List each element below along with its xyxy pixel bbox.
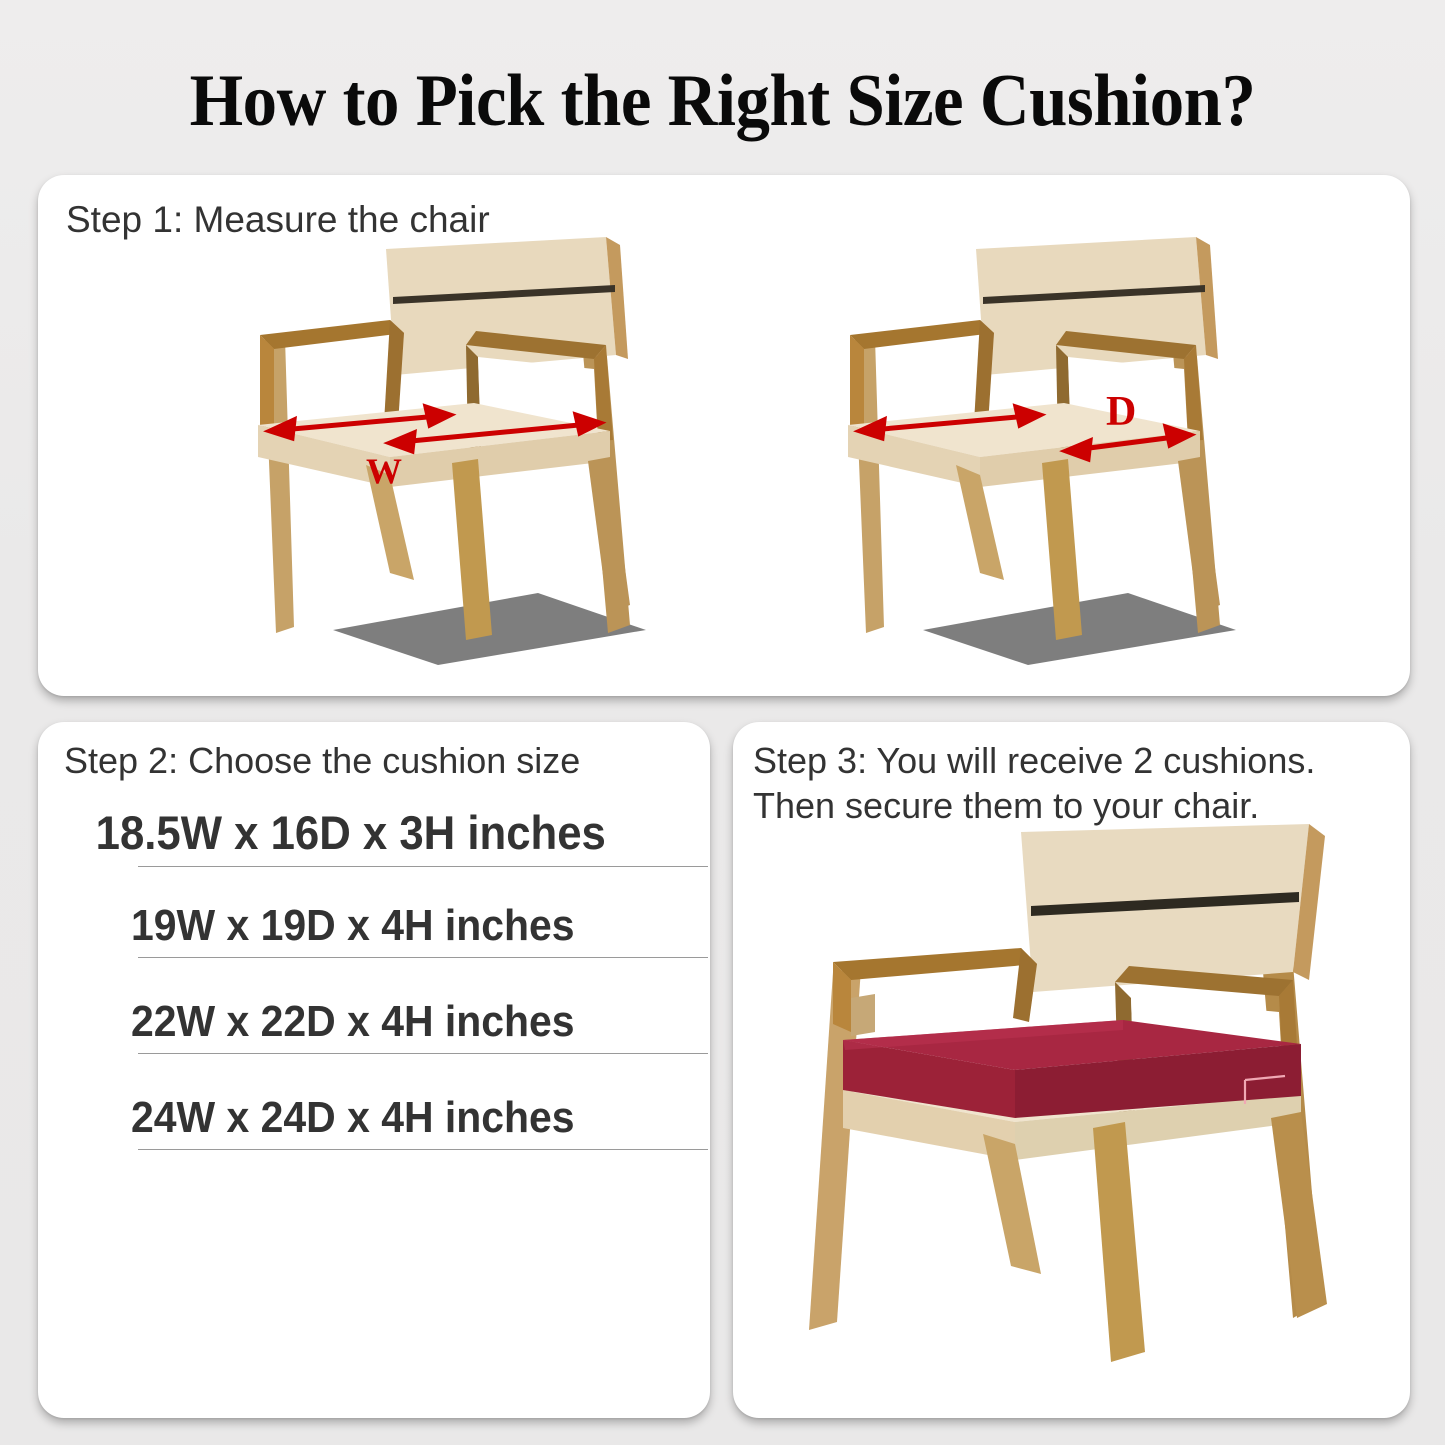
front-leg-center xyxy=(1093,1122,1145,1362)
armrest-left-top xyxy=(260,320,404,349)
armrest-left-top xyxy=(833,948,1037,980)
size-divider xyxy=(138,957,708,958)
cushion-size-list: 18.5W x 16D x 3H inches 19W x 19D x 4H i… xyxy=(38,800,710,1183)
chair-svg-cushion xyxy=(793,822,1373,1392)
chair-illustration-width: W xyxy=(238,235,678,665)
size-divider xyxy=(138,1053,708,1054)
front-leg-right xyxy=(588,457,630,613)
infographic-page: How to Pick the Right Size Cushion? Step… xyxy=(0,0,1445,1445)
size-option-row[interactable]: 24W x 24D x 4H inches xyxy=(38,1087,710,1183)
page-title: How to Pick the Right Size Cushion? xyxy=(51,58,1395,144)
size-option-row[interactable]: 18.5W x 16D x 3H inches xyxy=(38,800,710,895)
size-divider xyxy=(138,1149,708,1150)
front-leg-right xyxy=(1178,457,1220,613)
chair-svg-depth: D xyxy=(828,235,1268,665)
chair-illustration-with-cushion xyxy=(793,822,1373,1392)
size-option-label: 18.5W x 16D x 3H inches xyxy=(38,800,663,866)
size-option-row[interactable]: 19W x 19D x 4H inches xyxy=(38,895,710,991)
armrest-left-outer xyxy=(260,335,274,431)
armrest-left-post xyxy=(851,994,875,1036)
armrest-left-inner xyxy=(384,320,404,425)
width-letter: W xyxy=(366,451,402,491)
step-2-label: Step 2: Choose the cushion size xyxy=(64,738,580,783)
size-option-row[interactable]: 22W x 22D x 4H inches xyxy=(38,991,710,1087)
panel-step-3: Step 3: You will receive 2 cushions. The… xyxy=(733,722,1410,1418)
armrest-left-top xyxy=(850,320,994,349)
size-option-label: 22W x 22D x 4H inches xyxy=(38,991,663,1053)
size-option-label: 24W x 24D x 4H inches xyxy=(38,1087,663,1149)
armrest-left-inner xyxy=(974,320,994,425)
panel-step-1: Step 1: Measure the chair xyxy=(38,175,1410,696)
panel-step-2: Step 2: Choose the cushion size 18.5W x … xyxy=(38,722,710,1418)
armrest-left-outer xyxy=(850,335,864,431)
chair-svg-width: W xyxy=(238,235,678,665)
size-option-label: 19W x 19D x 4H inches xyxy=(38,895,663,957)
front-leg-right xyxy=(1271,1112,1327,1318)
step-3-label: Step 3: You will receive 2 cushions. The… xyxy=(753,738,1315,828)
chair-illustration-depth: D xyxy=(828,235,1268,665)
size-divider xyxy=(138,866,708,867)
depth-letter: D xyxy=(1106,389,1136,435)
